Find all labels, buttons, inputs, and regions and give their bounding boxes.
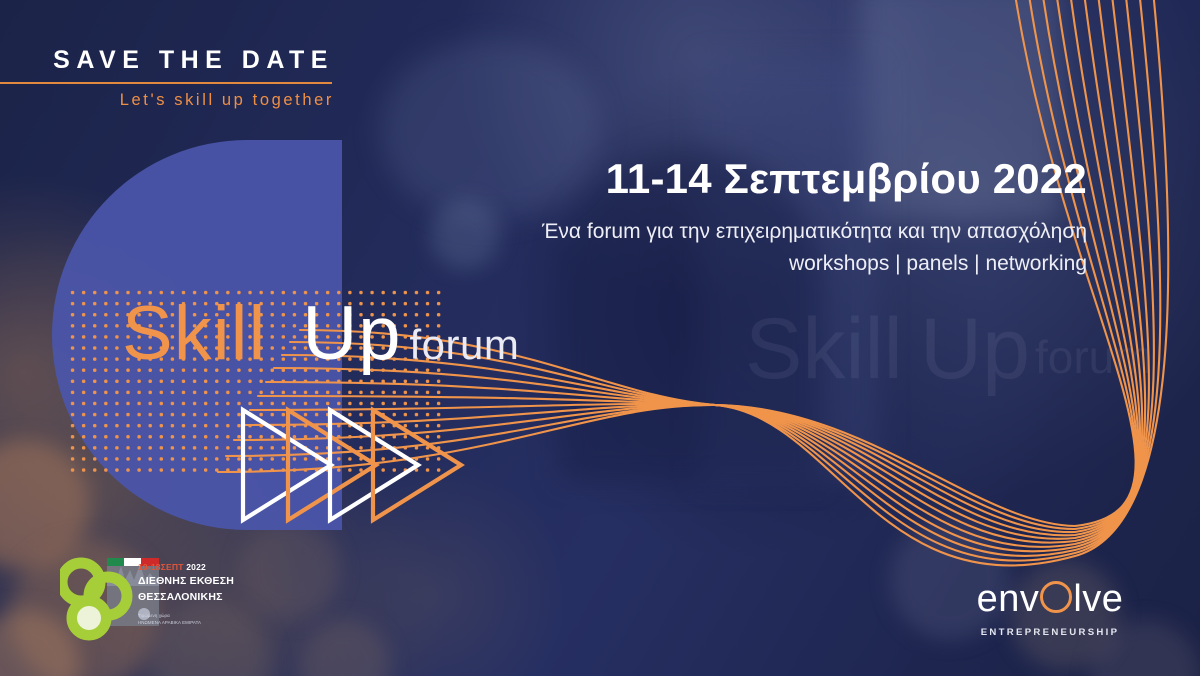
envolve-ring-icon xyxy=(1040,581,1072,613)
tif-honoured-label: Τιμώμενη χώρα xyxy=(138,613,256,620)
event-tagline: Ένα forum για την επιχειρηματικότητα και… xyxy=(542,216,1087,248)
save-the-date-block: SAVE THE DATE Let's skill up together xyxy=(0,48,340,109)
logo-word-forum: forum xyxy=(410,324,520,366)
bokeh-circle xyxy=(430,200,500,270)
envolve-word-after: lve xyxy=(1073,580,1123,618)
event-details-block: 11-14 Σεπτεμβρίου 2022 Ένα forum για την… xyxy=(542,155,1087,279)
save-the-date-divider xyxy=(0,82,332,84)
envolve-tagline: ENTREPRENEURSHIP xyxy=(970,627,1130,638)
envolve-word-before: env xyxy=(977,580,1040,618)
save-the-date-subtitle: Let's skill up together xyxy=(0,92,340,109)
event-date: 11-14 Σεπτεμβρίου 2022 xyxy=(542,155,1087,202)
tif-name-line-2: ΘΕΣΣΑΛΟΝΙΚΗΣ xyxy=(138,591,256,604)
logo-word-up: Up xyxy=(302,296,401,372)
watermark-up: Up xyxy=(920,300,1030,399)
tif-date-line: 10-18ΣΕΠΤ 2022 xyxy=(138,562,256,572)
logo-word-skill: Skill xyxy=(122,296,266,372)
promo-banner: Skill Up forum SAVE THE DATE Let's xyxy=(0,0,1200,676)
tif-date-month: ΣΕΠΤ xyxy=(161,562,184,572)
skill-up-forum-logo: Skill Up forum xyxy=(122,296,519,372)
save-the-date-title: SAVE THE DATE xyxy=(0,48,340,73)
watermark-forum: forum xyxy=(1035,330,1153,384)
tif-name-line-1: ΔΙΕΘΝΗΣ ΕΚΘΕΣΗ xyxy=(138,575,256,588)
tif-date-year: 2022 xyxy=(186,562,206,572)
tif-logo: 10-18ΣΕΠΤ 2022 ΔΙΕΘΝΗΣ ΕΚΘΕΣΗ ΘΕΣΣΑΛΟΝΙΚ… xyxy=(60,556,260,642)
tif-honoured-country: ΗΝΩΜΕΝΑ ΑΡΑΒΙΚΑ ΕΜΙΡΑΤΑ xyxy=(138,620,256,627)
event-formats: workshops | panels | networking xyxy=(542,248,1087,280)
tif-date-prefix: 10-18 xyxy=(138,562,161,572)
envolve-wordmark: envlve xyxy=(970,580,1130,618)
watermark-skill: Skill xyxy=(745,300,903,399)
tif-logo-text: 10-18ΣΕΠΤ 2022 ΔΙΕΘΝΗΣ ΕΚΘΕΣΗ ΘΕΣΣΑΛΟΝΙΚ… xyxy=(138,562,256,627)
envolve-logo: envlve ENTREPRENEURSHIP xyxy=(970,580,1130,638)
